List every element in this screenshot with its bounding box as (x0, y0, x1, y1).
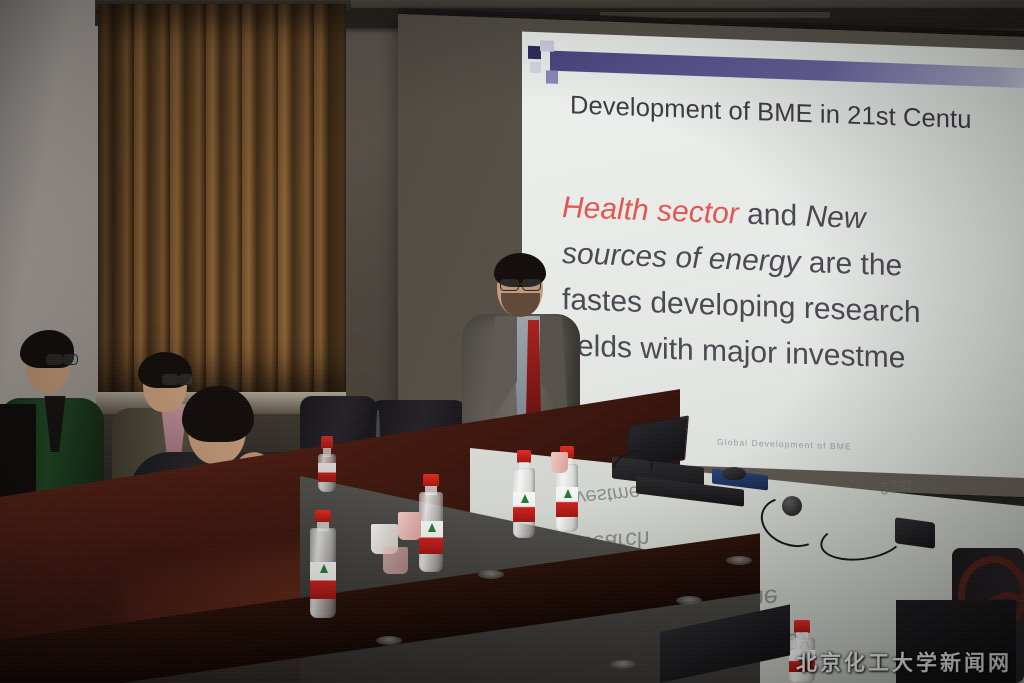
paper-cup[interactable] (551, 452, 568, 473)
table-reflection-text: 21st (880, 475, 912, 498)
slide-footer: Global Development of BME (717, 437, 852, 452)
watermark: 北京化工大学新闻网 (796, 647, 1012, 677)
tree-logo-icon (521, 494, 529, 503)
table-cable-grommet (478, 570, 504, 579)
table-cable-grommet (610, 660, 636, 669)
slide-deco-square (540, 40, 554, 52)
cable-connector (782, 496, 802, 516)
slide-header-bar (550, 51, 1024, 89)
eyeglasses-icon (522, 279, 541, 291)
paper-cup-reflection (383, 547, 408, 574)
paper-cup[interactable] (398, 512, 421, 540)
table-cable-grommet (376, 636, 402, 645)
slide-deco-square (546, 70, 558, 83)
slide-emphasis-sources-of-energy: sources of energy (562, 237, 800, 279)
slide-highlight-health-sector: Health sector (562, 191, 739, 230)
water-bottle[interactable] (513, 450, 535, 538)
table-cable-grommet (726, 556, 752, 565)
eyeglasses-icon (46, 354, 63, 365)
tree-logo-icon (428, 523, 436, 532)
eyeglasses-bridge (516, 283, 523, 285)
computer-mouse[interactable] (722, 467, 746, 480)
tree-logo-icon (564, 489, 572, 498)
water-bottle[interactable] (310, 510, 336, 618)
slide-deco-square (530, 62, 541, 73)
bottle-label (318, 463, 336, 482)
screenshot-root: Development of BME in 21st Centu Health … (0, 0, 1024, 683)
eyeglasses-icon (162, 374, 179, 385)
slide-emphasis-new: New (805, 200, 865, 235)
window-curtain (98, 4, 346, 404)
slide-text-and: and (739, 197, 806, 232)
slide-title: Development of BME in 21st Centu (570, 91, 972, 135)
eyeglasses-icon (63, 354, 78, 365)
slide-text-are-the: are the (800, 246, 902, 283)
slide-deco-square (558, 39, 568, 49)
eyeglasses-icon (178, 374, 193, 385)
water-bottle[interactable] (318, 436, 336, 492)
slide-body-text: Health sector and New sources of energy … (562, 185, 1024, 389)
eyeglasses-icon (500, 279, 519, 291)
water-bottle[interactable] (419, 474, 443, 572)
table-cable-grommet (676, 596, 702, 605)
tree-logo-icon (320, 564, 328, 573)
